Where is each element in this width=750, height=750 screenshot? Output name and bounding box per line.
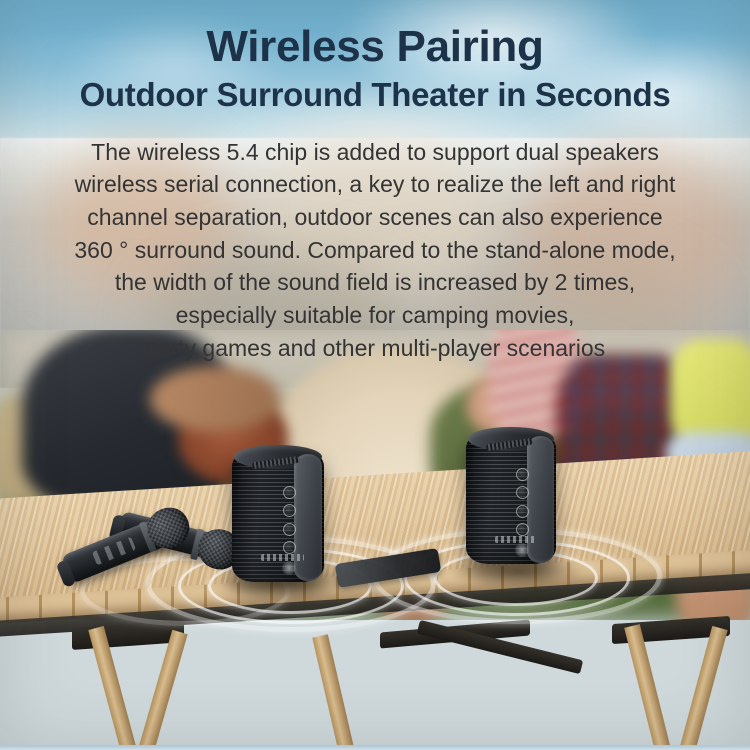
bottom-border-strip <box>0 745 750 750</box>
bluetooth-speaker-left <box>232 450 324 582</box>
description-line: wireless serial connection, a key to rea… <box>28 168 722 201</box>
speaker-power-button[interactable] <box>516 468 529 481</box>
speaker-power-button[interactable] <box>283 486 296 499</box>
speaker-control-panel <box>527 436 554 563</box>
speaker-volume-up-button[interactable] <box>516 523 529 536</box>
description-paragraph: The wireless 5.4 chip is added to suppor… <box>0 136 750 365</box>
description-line: 360 ° surround sound. Compared to the st… <box>28 234 722 267</box>
speaker-port-label <box>495 536 536 543</box>
poster-text-block: Wireless Pairing Outdoor Surround Theate… <box>0 0 750 364</box>
description-line: especially suitable for camping movies, <box>28 299 722 332</box>
product-marketing-poster: Wireless Pairing Outdoor Surround Theate… <box>0 0 750 750</box>
speaker-port-label <box>261 554 303 561</box>
speaker-play-button[interactable] <box>516 505 529 518</box>
page-subtitle: Outdoor Surround Theater in Seconds <box>0 77 750 114</box>
description-line: The wireless 5.4 chip is added to suppor… <box>28 136 722 169</box>
description-line: the width of the sound field is increase… <box>28 266 722 299</box>
guitar-player-arm <box>150 366 280 432</box>
bluetooth-speaker-right <box>466 432 556 564</box>
table-leg <box>131 630 188 750</box>
speaker-control-panel <box>294 454 322 581</box>
page-title: Wireless Pairing <box>0 24 750 71</box>
description-line: channel separation, outdoor scenes can a… <box>28 201 722 234</box>
table-leg <box>673 626 727 750</box>
description-line: party games and other multi-player scena… <box>28 332 722 365</box>
speaker-play-button[interactable] <box>283 523 296 536</box>
table-leg <box>312 634 355 750</box>
table-leg <box>624 624 676 750</box>
